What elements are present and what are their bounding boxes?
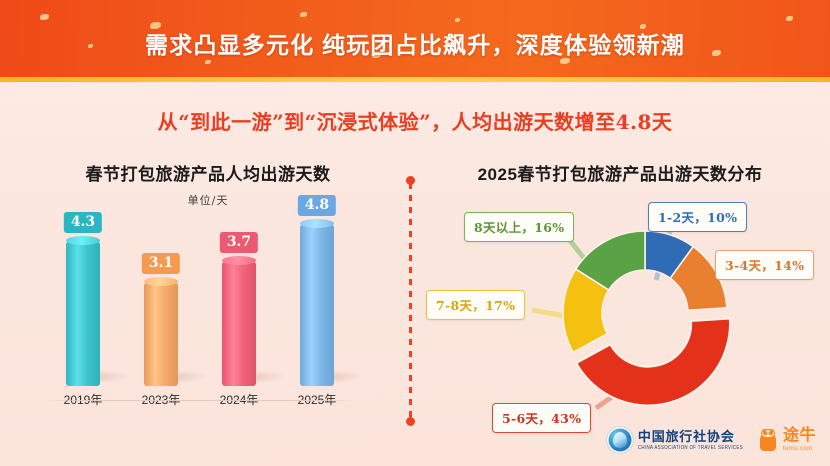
- logo-cats-en: CHINA ASSOCIATION OF TRAVEL SERVICES: [638, 445, 743, 451]
- divider-dashed-line: [409, 183, 412, 419]
- header-banner: 需求凸显多元化 纯玩团占比飙升，深度体验领新潮: [0, 0, 830, 82]
- bar-item: 3.72024年: [222, 261, 256, 386]
- logo-tuniu: 途牛 tuniu.com: [757, 428, 816, 452]
- callout-7-8-days[interactable]: 7-8天，17%: [426, 290, 525, 320]
- bar-value-label: 3.1: [142, 253, 180, 274]
- bar-top-cap: [222, 256, 256, 265]
- callout-3-4-days[interactable]: 3-4天，14%: [715, 250, 814, 280]
- bar-value-label: 3.7: [220, 232, 258, 253]
- logo-tuniu-cn: 途牛: [783, 428, 816, 444]
- bar-body[interactable]: [66, 241, 100, 386]
- logo-china-association-of-travel-services: 中国旅行社协会 CHINA ASSOCIATION OF TRAVEL SERV…: [607, 427, 743, 453]
- bar-chart-title: 春节打包旅游产品人均出游天数: [18, 160, 398, 185]
- globe-icon: [607, 427, 633, 453]
- bar-item: 4.82025年: [300, 224, 334, 386]
- subtitle: 从“到此一游”到“沉浸式体验”，人均出游天数增至4.8天: [0, 106, 830, 135]
- callout-8-days-plus[interactable]: 8天以上，16%: [464, 212, 574, 242]
- bar-chart-baseline: [46, 400, 356, 401]
- logo-cats-cn: 中国旅行社协会: [638, 430, 743, 443]
- bar-value-label: 4.3: [64, 212, 102, 233]
- bar-item: 4.32019年: [66, 241, 100, 386]
- bar-body[interactable]: [222, 261, 256, 386]
- bar-top-cap: [144, 277, 178, 286]
- footer-logos: 中国旅行社协会 CHINA ASSOCIATION OF TRAVEL SERV…: [607, 424, 816, 456]
- bar-chart-unit: 单位/天: [18, 192, 398, 208]
- section-divider: [409, 176, 412, 426]
- bar-top-cap: [300, 219, 334, 228]
- callout-1-2-days[interactable]: 1-2天，10%: [648, 202, 747, 232]
- bar-item: 3.12023年: [144, 282, 178, 386]
- bar-value-label: 4.8: [298, 195, 336, 216]
- divider-dot-bottom: [406, 417, 415, 426]
- bar-body[interactable]: [144, 282, 178, 386]
- bar-series: 4.32019年3.12023年3.72024年4.82025年: [66, 214, 366, 386]
- donut-chart: 8天以上，16% 1-2天，10% 3-4天，14% 7-8天，17% 5-6天…: [420, 160, 820, 440]
- bar-chart-panel: 春节打包旅游产品人均出游天数 单位/天 4.32019年3.12023年3.72…: [18, 160, 398, 430]
- ox-mascot-icon: [757, 428, 779, 452]
- bar-top-cap: [66, 236, 100, 245]
- infographic-root: 需求凸显多元化 纯玩团占比飙升，深度体验领新潮 从“到此一游”到“沉浸式体验”，…: [0, 0, 830, 466]
- callout-5-6-days[interactable]: 5-6天，43%: [492, 403, 591, 433]
- bar-body[interactable]: [300, 224, 334, 386]
- donut-chart-panel: 2025春节打包旅游产品出游天数分布 8天以上，16% 1-2天，10% 3-4…: [420, 160, 820, 440]
- page-title: 需求凸显多元化 纯玩团占比飙升，深度体验领新潮: [0, 26, 830, 60]
- logo-tuniu-en: tuniu.com: [783, 446, 816, 452]
